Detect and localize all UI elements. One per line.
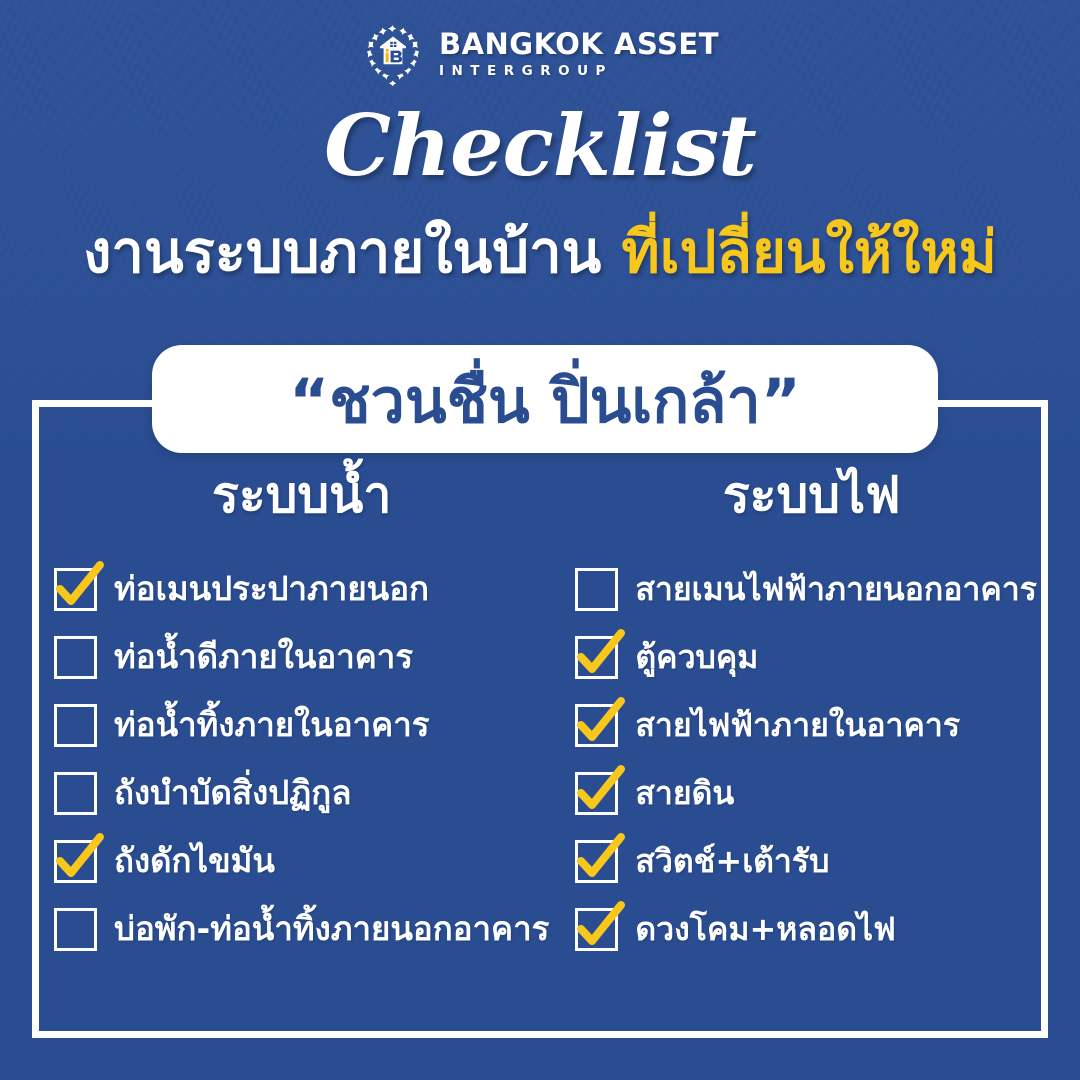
- checkbox-checked[interactable]: [575, 772, 618, 815]
- check-icon: [52, 559, 106, 613]
- page-title: Checklist: [0, 96, 1080, 195]
- check-icon: [573, 763, 627, 817]
- checkbox-checked[interactable]: [575, 636, 618, 679]
- checkbox-checked[interactable]: [54, 568, 97, 611]
- list-item-label: ถังบำบัดสิ่งปฏิกูล: [114, 776, 352, 811]
- page-subtitle: งานระบบภายในบ้าน ที่เปลี่ยนให้ใหม่: [0, 223, 1080, 281]
- checkbox-unchecked[interactable]: [54, 636, 97, 679]
- checklist-column-electrical: ระบบไฟ สายเมนไฟฟ้าภายนอกอาคาร: [549, 470, 1048, 1030]
- list-item[interactable]: สวิตช์+เต้ารับ: [575, 840, 1048, 883]
- checklist-items-electrical: สายเมนไฟฟ้าภายนอกอาคาร ตู้ควบคุม: [575, 568, 1048, 951]
- list-item-label: บ่อพัก-ท่อน้ำทิ้งภายนอกอาคาร: [114, 912, 549, 947]
- list-item[interactable]: ถังบำบัดสิ่งปฏิกูล: [54, 772, 549, 815]
- list-item[interactable]: ดวงโคม+หลอดไฟ: [575, 908, 1048, 951]
- list-item[interactable]: ถังดักไขมัน: [54, 840, 549, 883]
- list-item[interactable]: สายเมนไฟฟ้าภายนอกอาคาร: [575, 568, 1048, 611]
- check-icon: [573, 627, 627, 681]
- checklist-column-water: ระบบน้ำ ท่อเมนประปาภายนอก: [32, 470, 549, 1030]
- house-laurel-wreath-logo-icon: [361, 22, 425, 86]
- checkbox-checked[interactable]: [575, 908, 618, 951]
- checkbox-checked[interactable]: [54, 840, 97, 883]
- check-icon: [52, 831, 106, 885]
- list-item[interactable]: ท่อน้ำทิ้งภายในอาคาร: [54, 704, 549, 747]
- brand-name: BANGKOK ASSET: [439, 30, 719, 59]
- list-item-label: ท่อน้ำดีภายในอาคาร: [114, 640, 413, 675]
- list-item-label: ดวงโคม+หลอดไฟ: [635, 913, 895, 947]
- list-item[interactable]: ตู้ควบคุม: [575, 636, 1048, 679]
- list-item-label: ตู้ควบคุม: [635, 641, 758, 675]
- checklist-items-water: ท่อเมนประปาภายนอก ท่อน้ำดีภายในอาคาร: [54, 568, 549, 951]
- list-item-label: ท่อน้ำทิ้งภายในอาคาร: [114, 708, 430, 743]
- list-item-label: สายดิน: [635, 777, 734, 811]
- list-item-label: สายเมนไฟฟ้าภายนอกอาคาร: [635, 573, 1037, 607]
- checkbox-checked[interactable]: [575, 840, 618, 883]
- page-subtitle-white: งานระบบภายในบ้าน: [83, 218, 601, 286]
- page-subtitle-highlight: ที่เปลี่ยนให้ใหม่: [622, 218, 997, 286]
- list-item[interactable]: ท่อเมนประปาภายนอก: [54, 568, 549, 611]
- list-item-label: ท่อเมนประปาภายนอก: [114, 572, 429, 607]
- checklist-columns: ระบบน้ำ ท่อเมนประปาภายนอก: [32, 470, 1048, 1030]
- list-item[interactable]: บ่อพัก-ท่อน้ำทิ้งภายนอกอาคาร: [54, 908, 549, 951]
- column-title-water: ระบบน้ำ: [54, 470, 549, 520]
- column-title-electrical: ระบบไฟ: [575, 470, 1048, 520]
- checkbox-checked[interactable]: [575, 704, 618, 747]
- list-item[interactable]: สายไฟฟ้าภายในอาคาร: [575, 704, 1048, 747]
- checkbox-unchecked[interactable]: [575, 568, 618, 611]
- check-icon: [573, 899, 627, 953]
- brand-subtitle: INTERGROUP: [439, 65, 613, 79]
- list-item-label: สายไฟฟ้าภายในอาคาร: [635, 709, 960, 743]
- list-item-label: สวิตช์+เต้ารับ: [635, 845, 829, 879]
- list-item[interactable]: สายดิน: [575, 772, 1048, 815]
- checkbox-unchecked[interactable]: [54, 772, 97, 815]
- brand-wordmark: BANGKOK ASSET INTERGROUP: [439, 30, 719, 79]
- check-icon: [573, 831, 627, 885]
- checkbox-unchecked[interactable]: [54, 704, 97, 747]
- list-item[interactable]: ท่อน้ำดีภายในอาคาร: [54, 636, 549, 679]
- check-icon: [573, 695, 627, 749]
- brand-logo: BANGKOK ASSET INTERGROUP: [0, 22, 1080, 86]
- checklist-poster: BANGKOK ASSET INTERGROUP Checklist งานระ…: [0, 0, 1080, 1080]
- list-item-label: ถังดักไขมัน: [114, 844, 275, 879]
- checkbox-unchecked[interactable]: [54, 908, 97, 951]
